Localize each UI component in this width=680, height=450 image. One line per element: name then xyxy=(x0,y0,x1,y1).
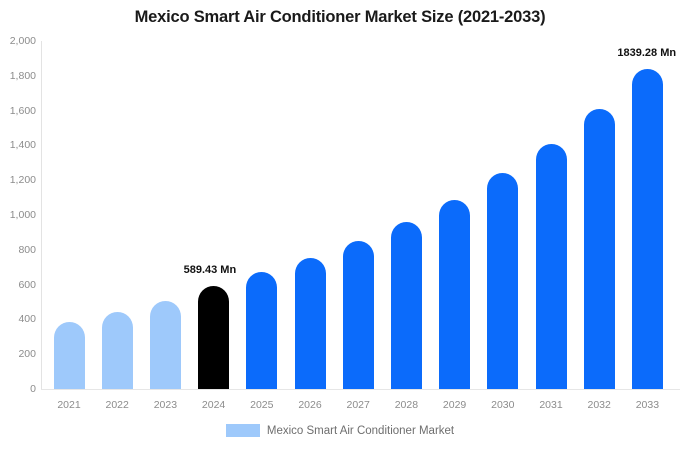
legend-color-swatch xyxy=(226,424,260,437)
bar-2022[interactable] xyxy=(102,312,133,389)
bar-2031[interactable] xyxy=(536,144,567,389)
bar-2027[interactable] xyxy=(343,241,374,389)
x-axis-tick-label: 2033 xyxy=(617,399,677,411)
data-label-2024: 589.43 Mn xyxy=(184,264,237,276)
bar-2028[interactable] xyxy=(391,222,422,389)
bar-2021[interactable] xyxy=(54,322,85,389)
data-label-2033: 1839.28 Mn xyxy=(617,47,676,59)
chart-container: Mexico Smart Air Conditioner Market Size… xyxy=(0,0,680,450)
legend-item[interactable]: Mexico Smart Air Conditioner Market xyxy=(226,424,454,437)
bar-2023[interactable] xyxy=(150,301,181,389)
legend-item-label: Mexico Smart Air Conditioner Market xyxy=(267,425,454,437)
bar-2029[interactable] xyxy=(439,200,470,389)
bar-2024[interactable] xyxy=(198,286,229,389)
bar-2032[interactable] xyxy=(584,109,615,389)
chart-legend: Mexico Smart Air Conditioner Market xyxy=(0,424,680,437)
bar-2025[interactable] xyxy=(246,272,277,389)
bar-2026[interactable] xyxy=(295,258,326,389)
bar-2033[interactable] xyxy=(632,69,663,389)
bars-layer: 2021202220232024202520262027202820292030… xyxy=(0,0,680,450)
bar-2030[interactable] xyxy=(487,173,518,389)
